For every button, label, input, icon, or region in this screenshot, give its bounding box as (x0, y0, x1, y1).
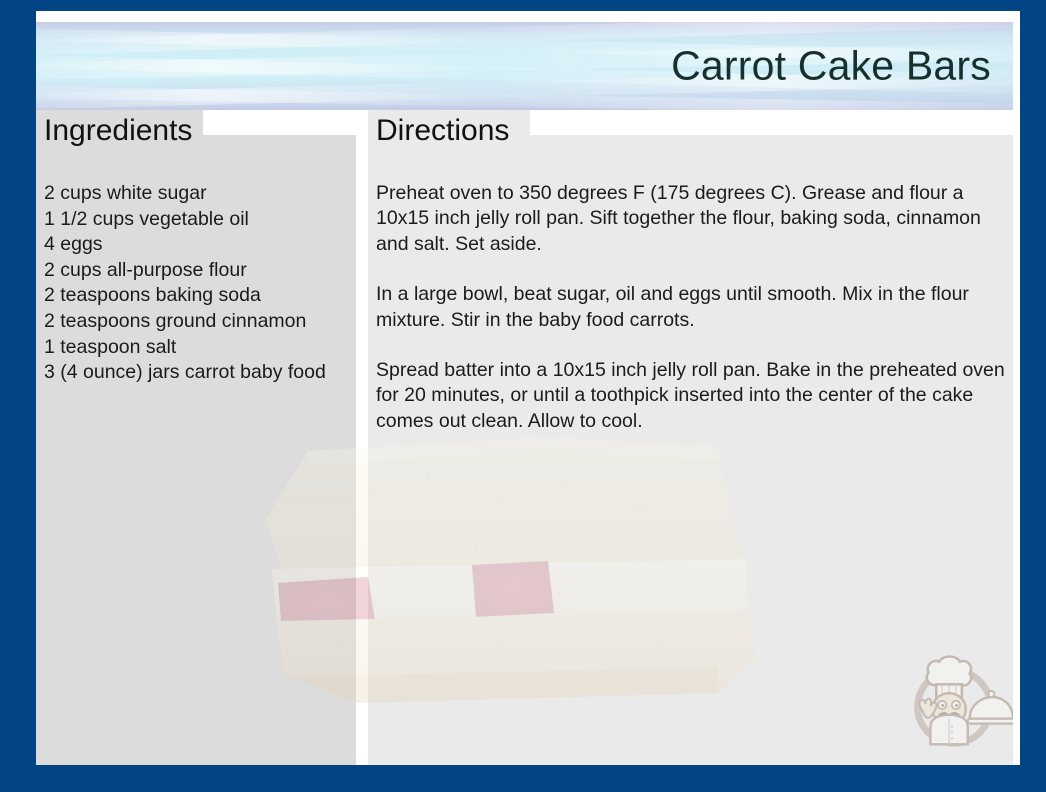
ingredient-item: 1 teaspoon salt (44, 335, 349, 361)
ingredient-item: 2 cups all-purpose flour (44, 258, 349, 284)
card-inner: Carrot Cake Bars Ingredients 2 cups whit… (36, 11, 1020, 765)
ingredient-item: 2 teaspoons baking soda (44, 283, 349, 309)
direction-step: Preheat oven to 350 degrees F (175 degre… (376, 181, 1013, 257)
ingredient-item: 2 teaspoons ground cinnamon (44, 309, 349, 335)
recipe-title: Carrot Cake Bars (671, 46, 991, 87)
recipe-card: Carrot Cake Bars Ingredients 2 cups whit… (0, 0, 1046, 792)
ingredients-list: 2 cups white sugar 1 1/2 cups vegetable … (44, 181, 349, 386)
ingredient-item: 3 (4 ounce) jars carrot baby food (44, 360, 349, 386)
directions-body: Preheat oven to 350 degrees F (175 degre… (376, 181, 1013, 434)
directions-heading: Directions (376, 112, 509, 150)
direction-step: In a large bowl, beat sugar, oil and egg… (376, 282, 1013, 333)
ingredients-heading: Ingredients (44, 112, 192, 150)
ingredient-item: 1 1/2 cups vegetable oil (44, 207, 349, 233)
ingredient-item: 4 eggs (44, 232, 349, 258)
header-banner: Carrot Cake Bars (36, 22, 1013, 110)
ingredient-item: 2 cups white sugar (44, 181, 349, 207)
direction-step: Spread batter into a 10x15 inch jelly ro… (376, 358, 1013, 434)
